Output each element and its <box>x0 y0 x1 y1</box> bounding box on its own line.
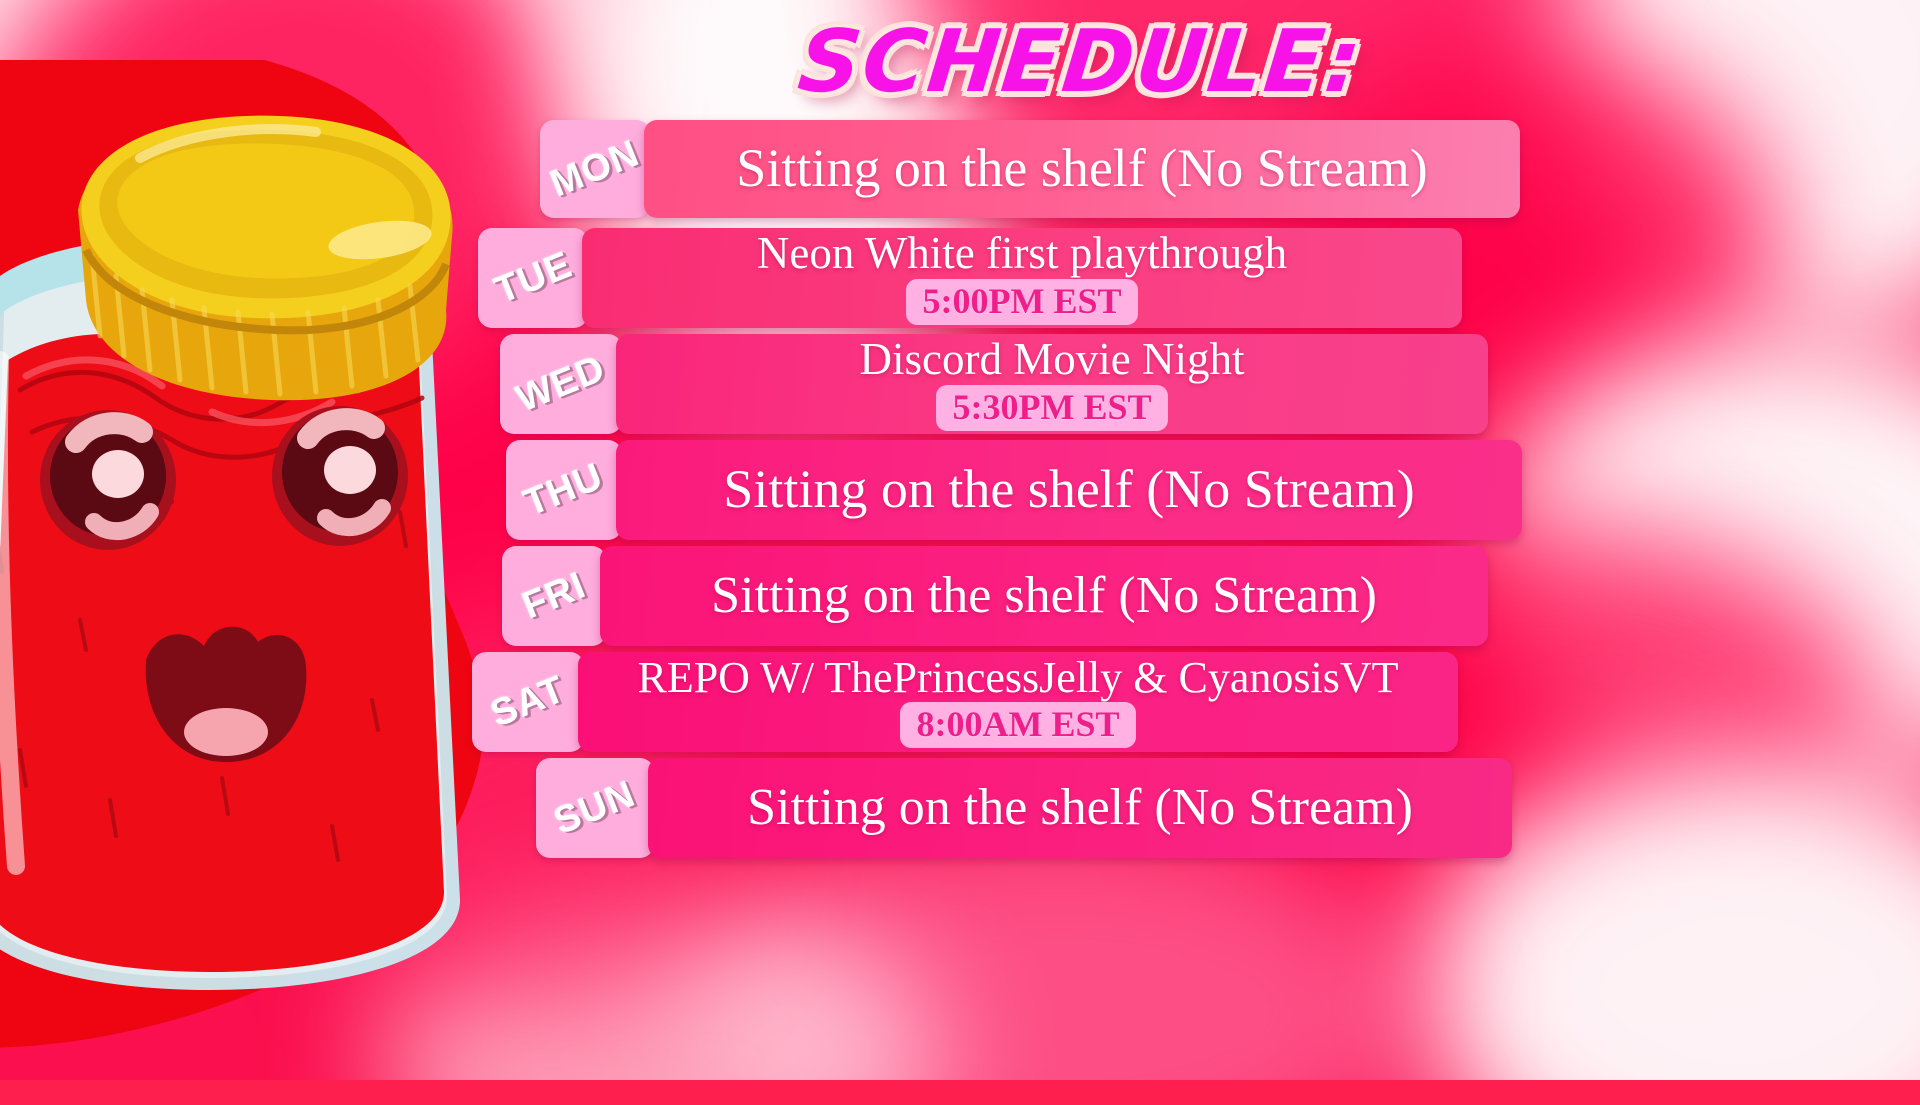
schedule-row-sat[interactable]: SAT REPO W/ ThePrincessJelly & CyanosisV… <box>472 652 1458 752</box>
event-time-tue: 5:00PM EST <box>906 279 1137 325</box>
event-title-fri: Sitting on the shelf (No Stream) <box>711 569 1377 622</box>
event-title-sat: REPO W/ ThePrincessJelly & CyanosisVT <box>637 656 1398 701</box>
event-title-wed: Discord Movie Night <box>860 337 1245 383</box>
event-title-thu: Sitting on the shelf (No Stream) <box>723 462 1414 517</box>
schedule-row-fri[interactable]: FRI Sitting on the shelf (No Stream) <box>502 546 1488 646</box>
day-label-mon: MON <box>545 134 644 204</box>
day-tab-sat: SAT <box>472 652 584 752</box>
event-bar-fri[interactable]: Sitting on the shelf (No Stream) <box>600 546 1488 646</box>
schedule-row-wed[interactable]: WED Discord Movie Night 5:30PM EST <box>500 334 1488 434</box>
day-tab-wed: WED <box>500 334 622 434</box>
schedule-row-mon[interactable]: MON Sitting on the shelf (No Stream) <box>540 120 1520 218</box>
event-time-sat: 8:00AM EST <box>900 702 1135 748</box>
event-bar-mon[interactable]: Sitting on the shelf (No Stream) <box>644 120 1520 218</box>
day-label-wed: WED <box>511 349 610 419</box>
event-title-mon: Sitting on the shelf (No Stream) <box>736 141 1427 196</box>
day-label-sat: SAT <box>486 670 571 734</box>
day-label-fri: FRI <box>517 566 591 625</box>
schedule-row-sun[interactable]: SUN Sitting on the shelf (No Stream) <box>536 758 1512 858</box>
event-bar-tue[interactable]: Neon White first playthrough 5:00PM EST <box>582 228 1462 328</box>
day-label-tue: TUE <box>489 246 576 311</box>
schedule-list: MON Sitting on the shelf (No Stream) TUE… <box>0 116 1920 1076</box>
day-tab-mon: MON <box>540 120 650 218</box>
event-bar-wed[interactable]: Discord Movie Night 5:30PM EST <box>616 334 1488 434</box>
schedule-row-tue[interactable]: TUE Neon White first playthrough 5:00PM … <box>478 228 1462 328</box>
page-title-container: SCHEDULE: <box>700 6 1460 118</box>
day-tab-sun: SUN <box>536 758 654 858</box>
day-tab-fri: FRI <box>502 546 606 646</box>
day-label-sun: SUN <box>549 775 640 841</box>
event-bar-sun[interactable]: Sitting on the shelf (No Stream) <box>648 758 1512 858</box>
day-tab-tue: TUE <box>478 228 588 328</box>
day-tab-thu: THU <box>506 440 622 540</box>
page-title: SCHEDULE: <box>793 12 1366 112</box>
event-title-sun: Sitting on the shelf (No Stream) <box>747 781 1413 834</box>
event-bar-sat[interactable]: REPO W/ ThePrincessJelly & CyanosisVT 8:… <box>578 652 1458 752</box>
schedule-row-thu[interactable]: THU Sitting on the shelf (No Stream) <box>506 440 1522 540</box>
event-bar-thu[interactable]: Sitting on the shelf (No Stream) <box>616 440 1522 540</box>
event-title-tue: Neon White first playthrough <box>757 231 1287 277</box>
day-label-thu: THU <box>519 457 608 523</box>
event-time-wed: 5:30PM EST <box>936 385 1167 431</box>
